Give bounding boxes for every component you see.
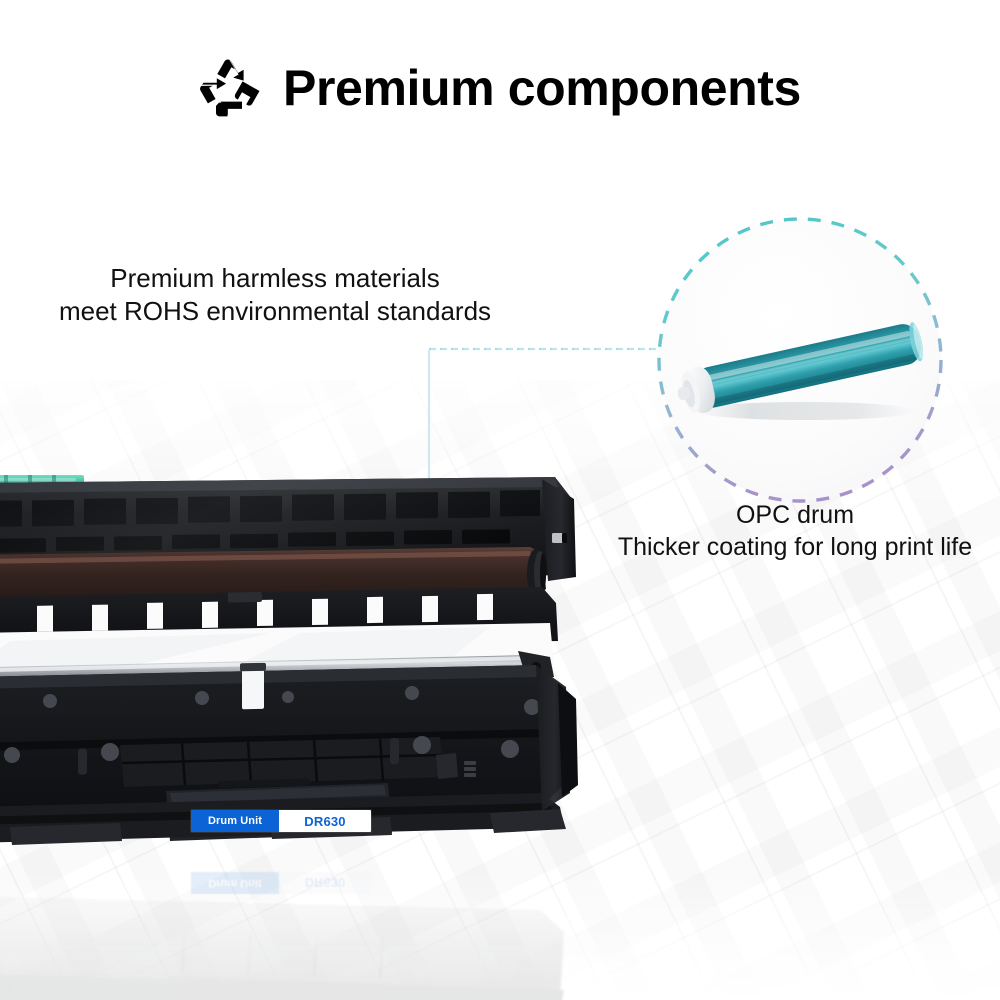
infographic-stage: Premium components Premium harmless mate… [0, 0, 1000, 1000]
label-model-reflection: DR630 [279, 872, 371, 894]
materials-callout-text: Premium harmless materials meet ROHS env… [40, 262, 510, 329]
page-title: Premium components [283, 63, 801, 113]
label-category: Drum Unit [191, 810, 279, 832]
page-header: Premium components [0, 52, 1000, 124]
label-model: DR630 [279, 810, 371, 832]
opc-drum-callout-circle [655, 215, 945, 505]
materials-callout-line2: meet ROHS environmental standards [40, 295, 510, 328]
background-fade-bottom [0, 870, 1000, 1000]
opc-callout-line2: Thicker coating for long print life [600, 532, 990, 564]
recycle-icon [199, 58, 263, 118]
opc-callout-line1: OPC drum [600, 500, 990, 532]
product-label-reflection: Drum Unit DR630 [191, 872, 371, 894]
label-category-reflection: Drum Unit [191, 872, 279, 894]
opc-drum-cylinder [655, 215, 945, 505]
product-label-badge: Drum Unit DR630 [191, 810, 371, 832]
materials-callout-line1: Premium harmless materials [40, 262, 510, 295]
product-reflection [0, 862, 650, 1000]
opc-callout-text: OPC drum Thicker coating for long print … [600, 500, 990, 564]
